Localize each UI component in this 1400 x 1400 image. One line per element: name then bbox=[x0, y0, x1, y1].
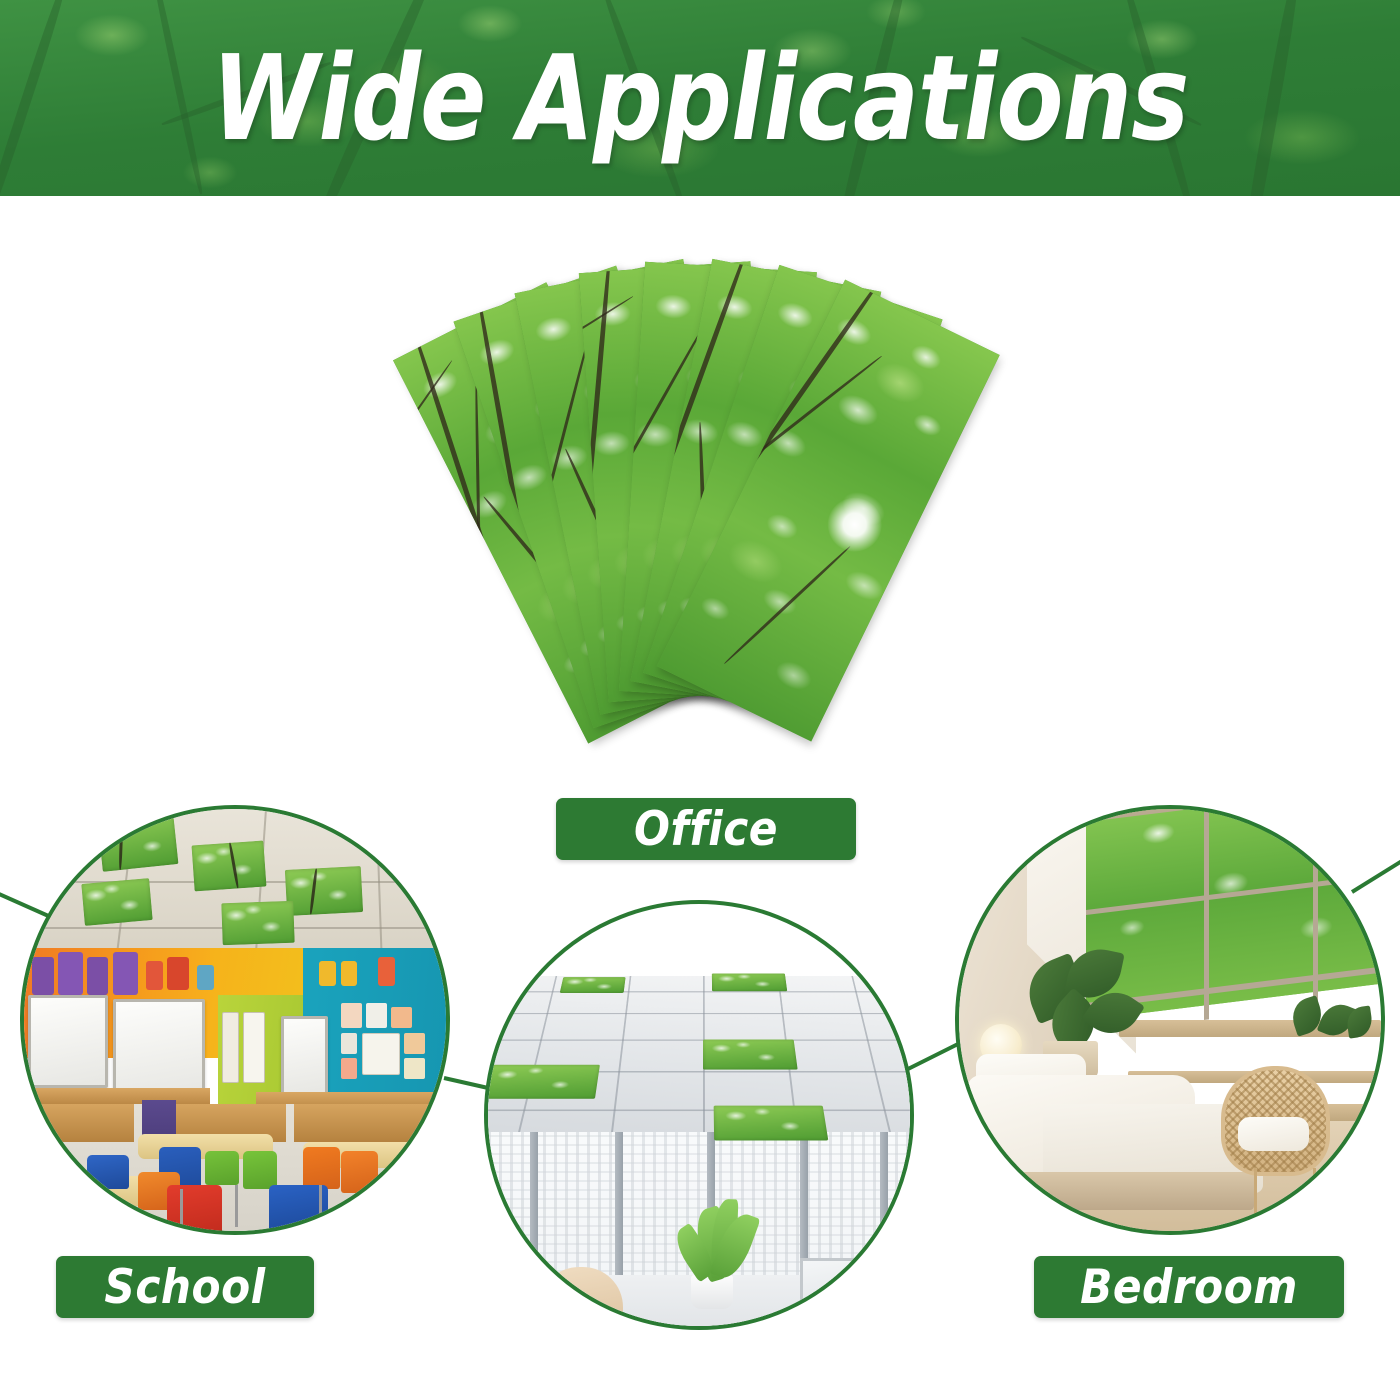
page-title: Wide Applications bbox=[56, 0, 1344, 196]
ceiling-light-panel bbox=[703, 1039, 798, 1069]
product-panel-fan bbox=[0, 196, 1400, 766]
header-banner: Wide Applications bbox=[0, 0, 1400, 196]
classroom-chair bbox=[167, 1185, 222, 1235]
whiteboard bbox=[281, 1016, 327, 1096]
ceiling-light-panel bbox=[284, 866, 362, 916]
ceiling-light-panel bbox=[560, 977, 625, 992]
classroom-scene bbox=[24, 809, 446, 1231]
label-badge-school: School bbox=[56, 1256, 314, 1318]
ceiling-light-panel bbox=[98, 814, 179, 872]
bedroom-scene bbox=[959, 809, 1381, 1231]
whiteboard bbox=[113, 999, 206, 1096]
classroom-chair bbox=[341, 1151, 379, 1193]
label-badge-office: Office bbox=[556, 798, 856, 860]
classroom-chair bbox=[87, 1155, 129, 1189]
ceiling-light-panel bbox=[81, 878, 152, 926]
application-image-office bbox=[484, 900, 914, 1330]
whiteboard bbox=[28, 995, 108, 1088]
ceiling-light-panel bbox=[191, 840, 266, 891]
cushion bbox=[1238, 1117, 1310, 1151]
ceiling-light-panel bbox=[713, 1105, 828, 1139]
application-image-school bbox=[20, 805, 450, 1235]
suspended-ceiling bbox=[484, 976, 914, 1132]
label-badge-bedroom: Bedroom bbox=[1034, 1256, 1344, 1318]
shelf-unit bbox=[294, 1104, 437, 1142]
bed-frame bbox=[993, 1172, 1255, 1210]
application-image-bedroom bbox=[955, 805, 1385, 1235]
classroom-chair bbox=[303, 1147, 341, 1189]
panel-box bbox=[800, 1258, 868, 1326]
classroom-chair bbox=[243, 1151, 277, 1189]
ceiling-light-panel bbox=[484, 1064, 600, 1098]
classroom-chair bbox=[205, 1151, 239, 1185]
counter bbox=[24, 1088, 210, 1105]
office-scene bbox=[488, 904, 910, 1326]
infographic-page: Wide Applications bbox=[0, 0, 1400, 1400]
ceiling-light-panel bbox=[711, 973, 787, 991]
ceiling-light-panel bbox=[222, 901, 295, 946]
shelf-unit bbox=[41, 1104, 134, 1142]
